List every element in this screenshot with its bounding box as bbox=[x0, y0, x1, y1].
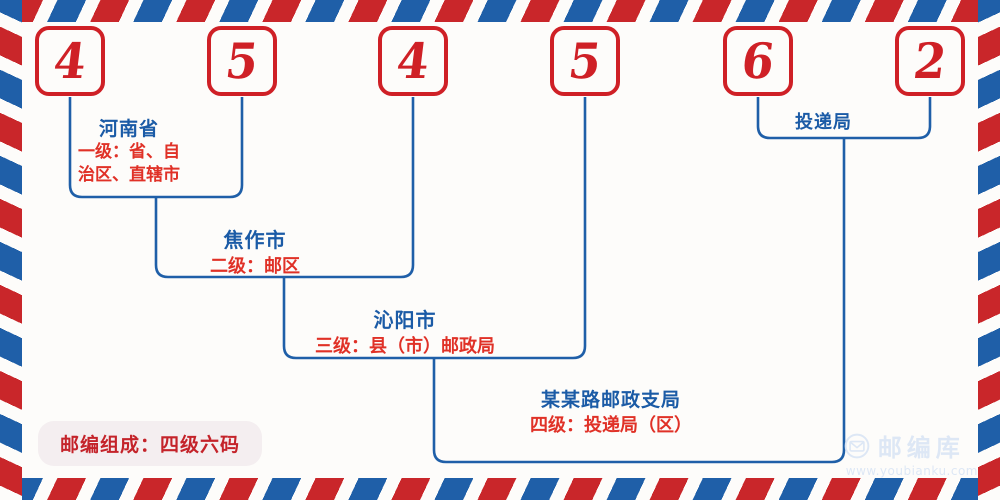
site-watermark: 邮编库 www.youbianku.com bbox=[844, 428, 978, 478]
level-4-group: 某某路邮政支局 四级：投递局（区） bbox=[530, 385, 692, 438]
postcode-structure-badge: 邮编组成：四级六码 bbox=[38, 421, 262, 466]
postcode-digit-5: 6 bbox=[723, 26, 793, 96]
level-4-name: 某某路邮政支局 bbox=[530, 385, 692, 412]
postcode-digit-3: 4 bbox=[378, 26, 448, 96]
level-1-group: 河南省 一级：省、自 治区、直辖市 bbox=[78, 114, 180, 187]
site-url: www.youbianku.com bbox=[846, 464, 978, 478]
digit-glyph: 5 bbox=[566, 37, 604, 86]
postcode-digit-4: 5 bbox=[550, 26, 620, 96]
level-1-name: 河南省 bbox=[78, 114, 180, 141]
delivery-office-group: 投递局 bbox=[795, 108, 852, 134]
delivery-office-label: 投递局 bbox=[795, 108, 852, 134]
digit-glyph: 5 bbox=[223, 37, 261, 86]
level-1-desc-line2: 治区、直辖市 bbox=[78, 164, 180, 187]
postcode-digit-2: 5 bbox=[207, 26, 277, 96]
level-3-name: 沁阳市 bbox=[315, 304, 495, 333]
level-3-desc-line1: 三级：县（市）邮政局 bbox=[315, 335, 495, 359]
postcode-infographic: 4 5 4 5 6 2 投递局 河南省 一级：省、自 治区、直辖市 焦作市 bbox=[0, 0, 1000, 500]
level-1-desc-line1: 一级：省、自 bbox=[78, 141, 180, 164]
digit-glyph: 2 bbox=[911, 37, 949, 86]
postcode-digit-1: 4 bbox=[35, 26, 105, 96]
level-4-desc-line1: 四级：投递局（区） bbox=[530, 414, 692, 438]
level-3-group: 沁阳市 三级：县（市）邮政局 bbox=[315, 304, 495, 359]
level-2-name: 焦作市 bbox=[210, 224, 300, 253]
digit-glyph: 4 bbox=[394, 37, 432, 86]
level-2-group: 焦作市 二级：邮区 bbox=[210, 224, 300, 279]
envelope-x-icon bbox=[844, 433, 870, 459]
postcode-digit-6: 2 bbox=[895, 26, 965, 96]
digit-glyph: 4 bbox=[51, 37, 89, 86]
site-brand-name: 邮编库 bbox=[878, 428, 965, 463]
level-2-desc-line1: 二级：邮区 bbox=[210, 255, 300, 279]
digit-glyph: 6 bbox=[739, 37, 777, 86]
